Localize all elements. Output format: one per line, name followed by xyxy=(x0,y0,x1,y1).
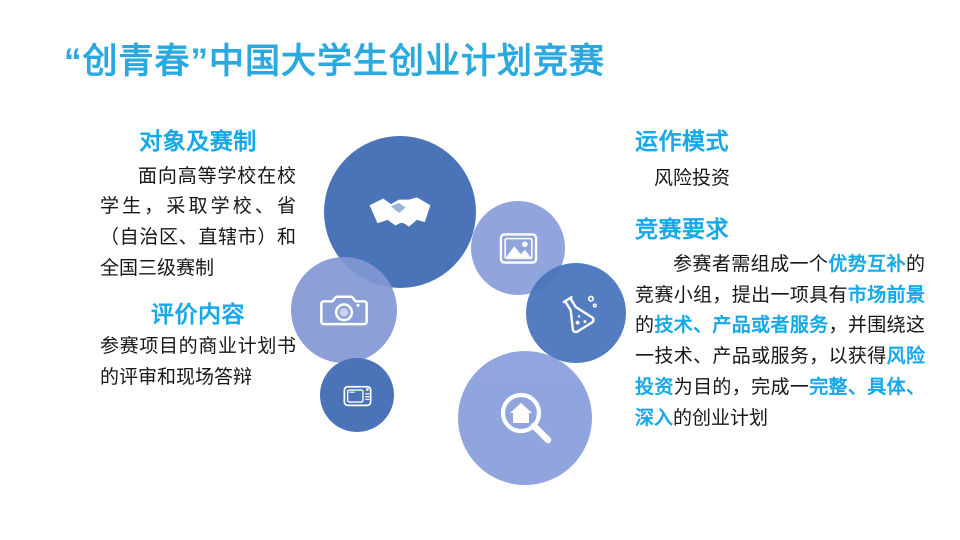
heading-competition-requirements: 竞赛要求 xyxy=(635,216,925,244)
slide-canvas: “创青春”中国大学生创业计划竞赛 对象及赛制 面向高等学校在校学生，采取学校、省… xyxy=(0,0,960,540)
page-title: “创青春”中国大学生创业计划竞赛 xyxy=(64,33,605,84)
paragraph-run: 为目的，完成一 xyxy=(674,377,809,398)
camera-icon xyxy=(319,285,369,335)
right-content-column: 运作模式 风险投资 竞赛要求 参赛者需组成一个优势互补的竞赛小组，提出一项具有市… xyxy=(635,128,925,435)
bubble-tv xyxy=(320,358,394,432)
bubble-home-search xyxy=(458,351,592,485)
tv-icon xyxy=(340,378,375,413)
flask-icon xyxy=(552,289,600,337)
text-competition-requirements: 参赛者需组成一个优势互补的竞赛小组，提出一项具有市场前景的技术、产品或者服务，并… xyxy=(635,250,925,435)
handshake-icon xyxy=(364,176,436,248)
paragraph-run: 的创业计划 xyxy=(673,408,768,429)
bubble-camera xyxy=(291,257,397,363)
home-search-icon xyxy=(493,386,557,450)
decorative-bubble-cluster xyxy=(250,110,670,510)
bubble-flask xyxy=(526,263,626,363)
highlighted-term: 技术、产品或者服务 xyxy=(654,315,828,336)
text-operation-mode: 风险投资 xyxy=(635,164,925,195)
heading-operation-mode: 运作模式 xyxy=(635,128,925,156)
highlighted-term: 优势互补 xyxy=(828,254,906,275)
highlighted-term: 市场前景 xyxy=(848,285,925,306)
paragraph-run: 参赛者需组成一个 xyxy=(673,254,828,275)
picture-icon xyxy=(496,226,541,271)
